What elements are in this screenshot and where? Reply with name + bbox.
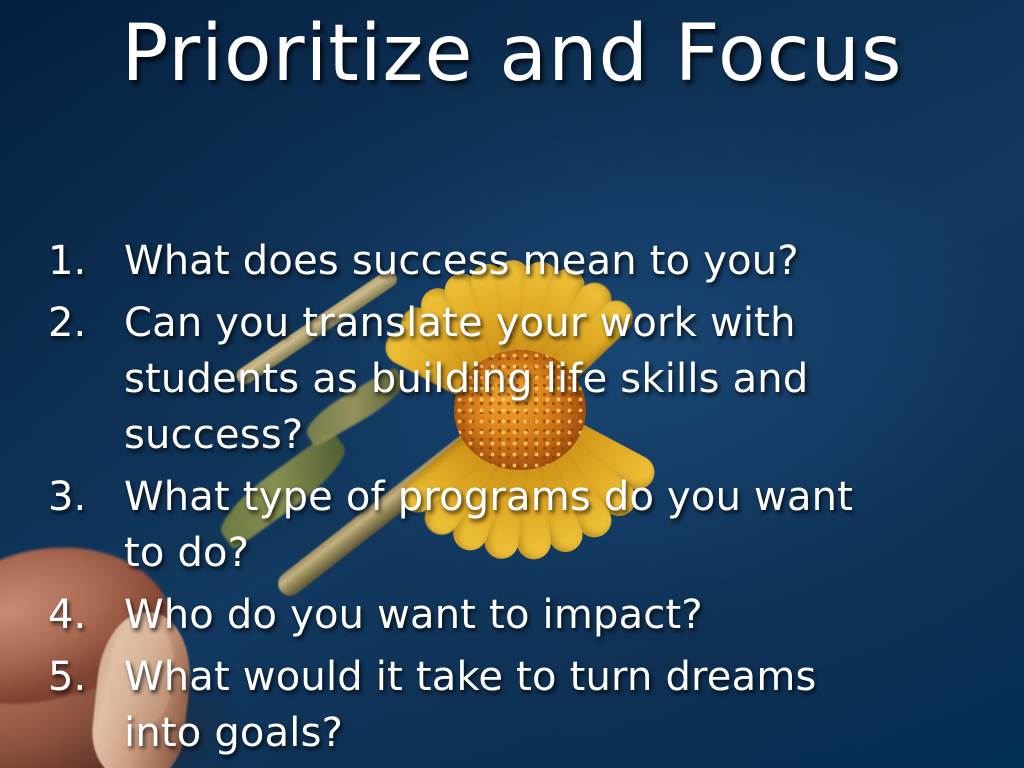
list-item-text: What does success mean to you? bbox=[124, 233, 884, 289]
list-item-number: 1. bbox=[48, 233, 124, 289]
list-item-text: Can you translate your work with student… bbox=[124, 295, 884, 463]
list-item-number: 4. bbox=[48, 587, 124, 643]
list-item-number: 5. bbox=[48, 649, 124, 705]
list-item-text: What would it take to turn dreams into g… bbox=[124, 649, 884, 761]
list-item: 1. What does success mean to you? bbox=[48, 233, 948, 289]
list-item: 3. What type of programs do you want to … bbox=[48, 469, 948, 581]
list-item: 4. Who do you want to impact? bbox=[48, 587, 948, 643]
page-title: Prioritize and Focus bbox=[0, 14, 1024, 96]
list-item-number: 2. bbox=[48, 295, 124, 351]
list-item-number: 3. bbox=[48, 469, 124, 525]
list-item-text: Who do you want to impact? bbox=[124, 587, 884, 643]
list-item-text: What type of programs do you want to do? bbox=[124, 469, 884, 581]
list-item: 2. Can you translate your work with stud… bbox=[48, 295, 948, 463]
numbered-question-list: 1. What does success mean to you? 2. Can… bbox=[48, 233, 948, 767]
presentation-slide: Prioritize and Focus 1. What does succes… bbox=[0, 0, 1024, 768]
list-item: 5. What would it take to turn dreams int… bbox=[48, 649, 948, 761]
